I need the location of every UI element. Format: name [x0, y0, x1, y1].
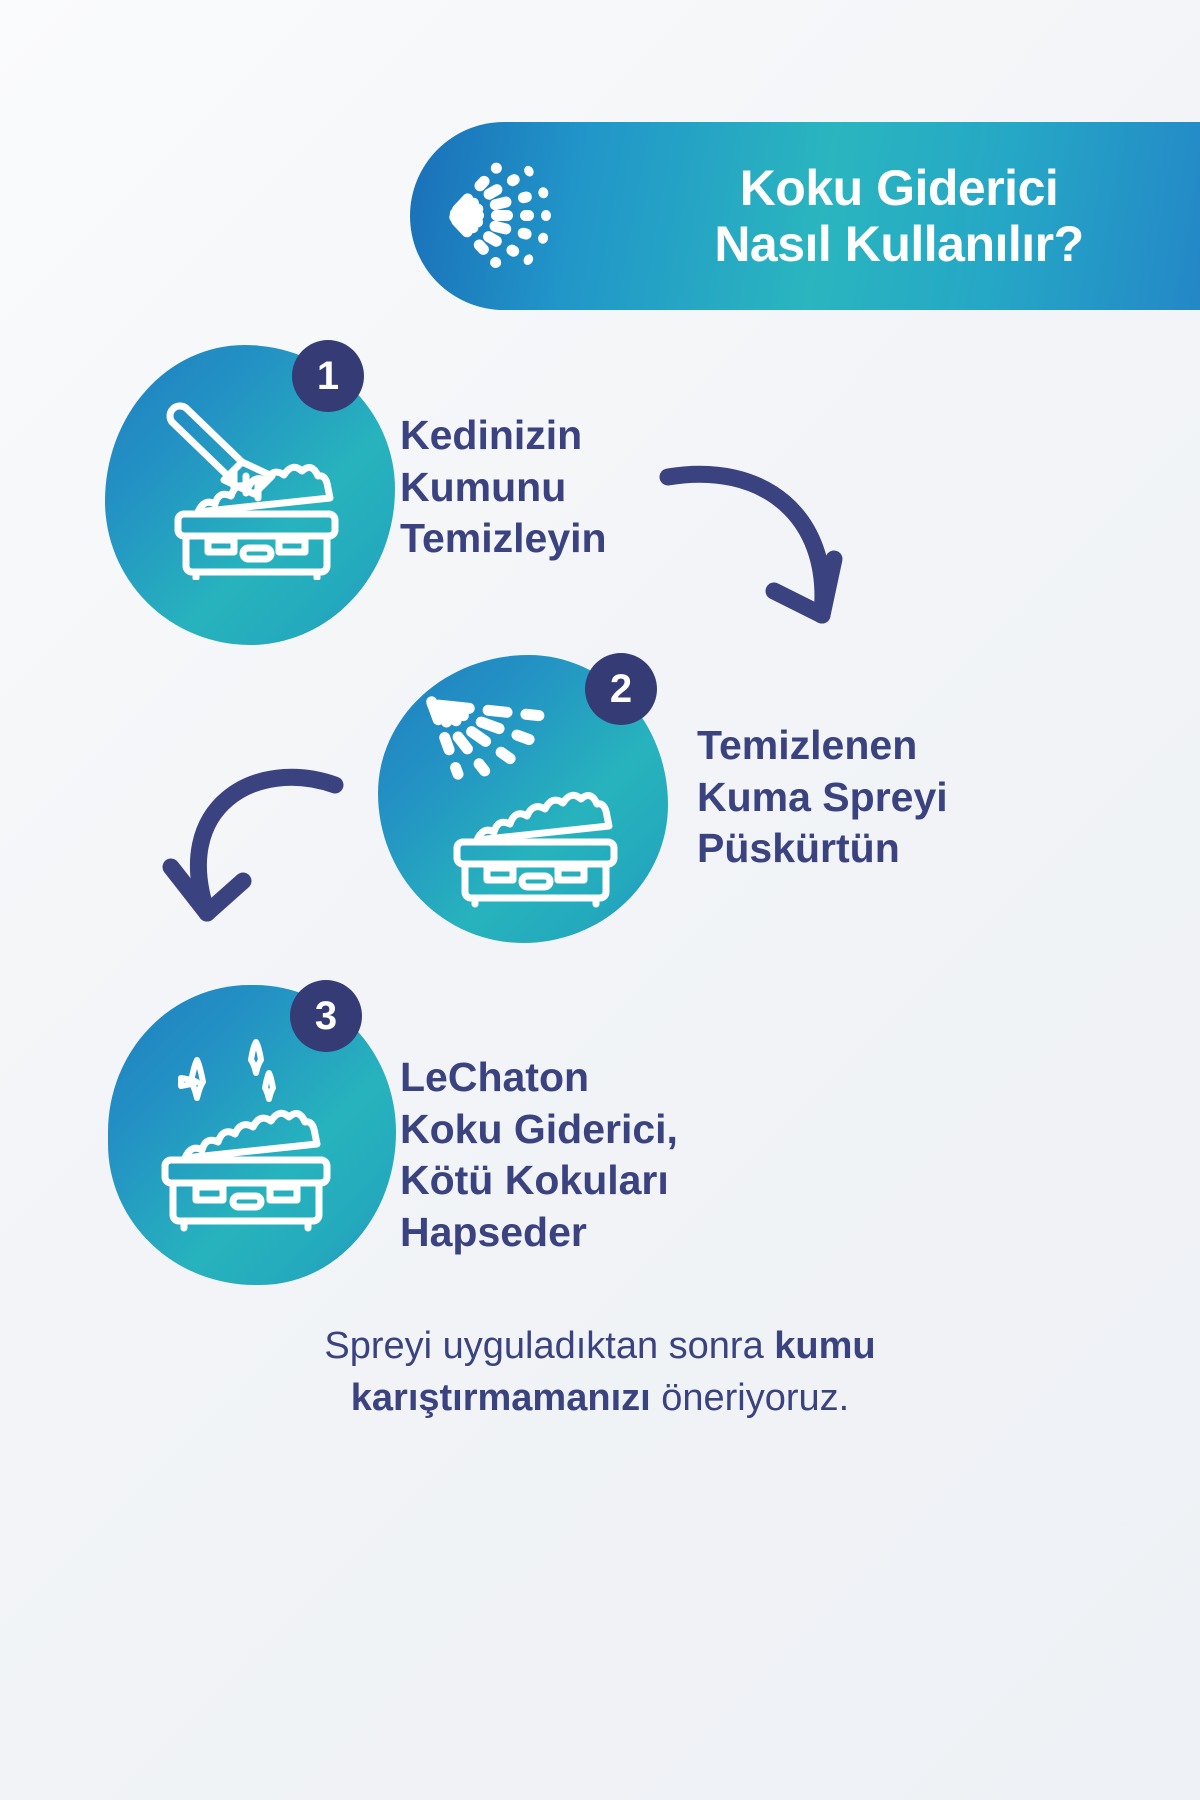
- step-2-text-line-2: Kuma Spreyi: [697, 772, 948, 824]
- spray-burst-icon: [444, 148, 580, 284]
- header-title: Koku Giderici Nasıl Kullanılır?: [620, 132, 1178, 300]
- step-1-text-line-2: Kumunu: [400, 462, 607, 514]
- arrow-step1-to-step2: [650, 455, 910, 705]
- footer-note-suffix: öneriyoruz.: [651, 1377, 850, 1419]
- step-3-text-line-1: LeChaton: [400, 1052, 678, 1104]
- footer-note-bold-2: karıştırmamanızı: [351, 1377, 651, 1419]
- step-2-badge: 2: [585, 653, 657, 725]
- step-3-text-line-4: Hapseder: [400, 1207, 678, 1259]
- step-2-text-line-3: Püskürtün: [697, 823, 948, 875]
- step-1-text: Kedinizin Kumunu Temizleyin: [400, 410, 607, 565]
- step-3-text-line-3: Kötü Kokuları: [400, 1155, 678, 1207]
- header-title-line1: Koku Giderici: [620, 160, 1178, 216]
- footer-note-prefix: Spreyi uyguladıktan sonra: [324, 1325, 774, 1367]
- infographic-canvas: Koku Giderici Nasıl Kullanılır?: [0, 0, 1200, 1800]
- litter-box-sparkle-icon: [145, 1030, 365, 1245]
- step-2-text: Temizlenen Kuma Spreyi Püskürtün: [697, 720, 948, 875]
- arrow-step2-to-step3: [145, 755, 395, 955]
- step-3-text: LeChaton Koku Giderici, Kötü Kokuları Ha…: [400, 1052, 678, 1259]
- footer-note-line-2: karıştırmamanızı öneriyoruz.: [120, 1372, 1080, 1424]
- litter-box-scoop-icon: [150, 390, 360, 580]
- step-1-text-line-1: Kedinizin: [400, 410, 607, 462]
- header-title-line2: Nasıl Kullanılır?: [620, 216, 1178, 272]
- step-3-badge: 3: [290, 980, 362, 1052]
- footer-note: Spreyi uyguladıktan sonra kumu karıştırm…: [120, 1320, 1080, 1425]
- step-1-badge: 1: [292, 340, 364, 412]
- step-3-number: 3: [315, 994, 337, 1039]
- header-banner: Koku Giderici Nasıl Kullanılır?: [410, 122, 1200, 310]
- step-3-text-line-2: Koku Giderici,: [400, 1104, 678, 1156]
- step-1-number: 1: [317, 354, 339, 399]
- step-2-text-line-1: Temizlenen: [697, 720, 948, 772]
- step-2-number: 2: [610, 667, 632, 712]
- footer-note-line-1: Spreyi uyguladıktan sonra kumu: [120, 1320, 1080, 1372]
- step-1-text-line-3: Temizleyin: [400, 513, 607, 565]
- footer-note-bold-1: kumu: [774, 1325, 875, 1367]
